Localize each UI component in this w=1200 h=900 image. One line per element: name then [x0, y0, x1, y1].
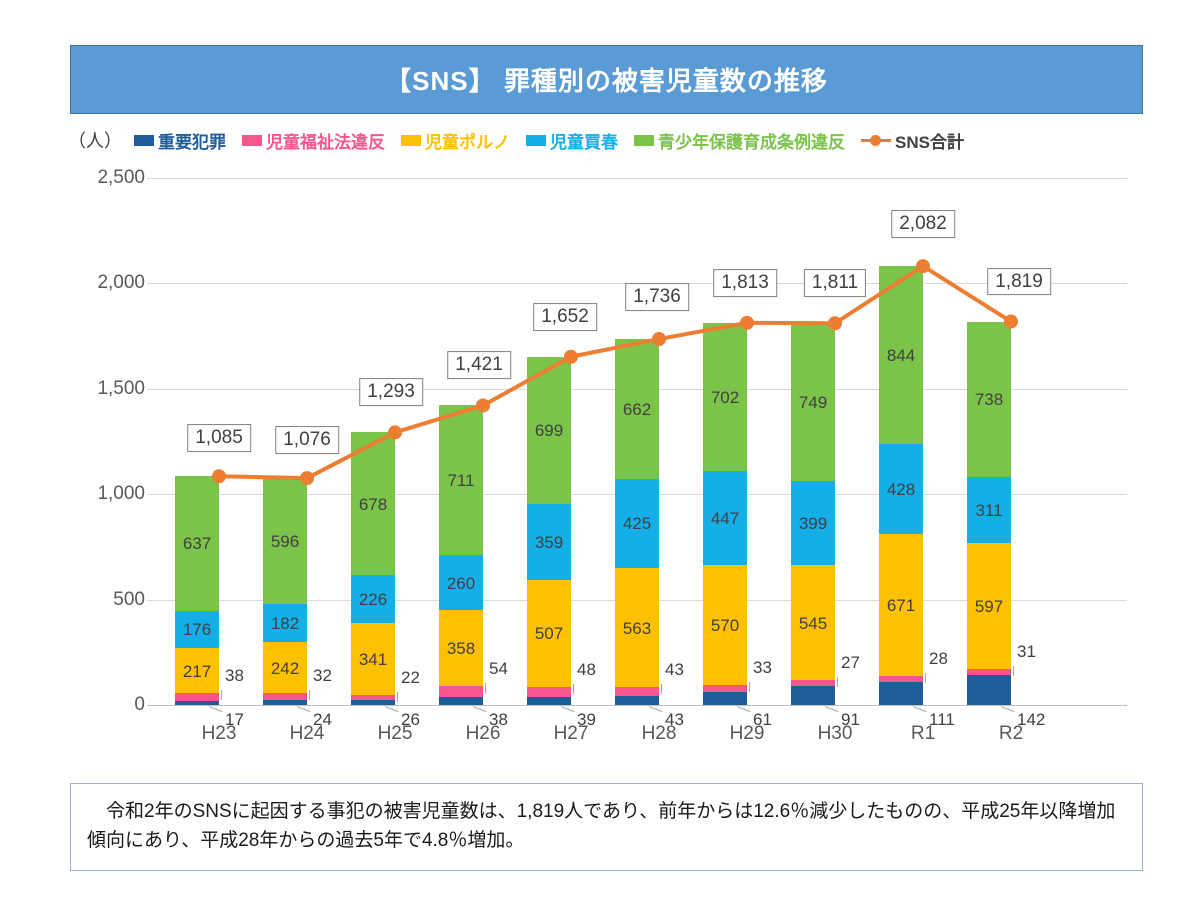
leader-line: [661, 684, 662, 694]
leader-line: [837, 677, 838, 687]
legend-line-marker-icon: [861, 134, 891, 146]
y-axis-tick-label: 1,500: [55, 378, 145, 400]
bar-group-R2[interactable]: 14231597311738: [967, 160, 1055, 715]
bar-group-H29[interactable]: 6133570447702: [703, 160, 791, 715]
legend-swatch-icon: [401, 135, 421, 146]
bar-segment-value: 545: [791, 615, 835, 632]
bar-segment-value: 702: [703, 389, 747, 406]
y-axis: 2,5002,0001,5001,0005000: [55, 160, 145, 720]
leader-line: [925, 673, 926, 683]
bar-segment-value: 844: [879, 347, 923, 364]
bar-segment-value: 749: [791, 394, 835, 411]
bar-segment[interactable]: [615, 696, 659, 705]
bar-segment-value: 27: [841, 654, 860, 671]
bar-group-H27[interactable]: 3948507359699: [527, 160, 615, 715]
bar-segment-value: 32: [313, 667, 332, 684]
bar-segment-value: 399: [791, 515, 835, 532]
y-axis-tick-label: 2,000: [55, 272, 145, 294]
leader-line: [1013, 666, 1014, 676]
bar-segment-value: 671: [879, 597, 923, 614]
leader-line: [749, 682, 750, 692]
chart-page: 【SNS】 罪種別の被害児童数の推移 （人） 重要犯罪児童福祉法違反児童ポルノ児…: [0, 0, 1200, 900]
legend-item-label: 重要犯罪: [158, 128, 226, 153]
legend-item-0[interactable]: 重要犯罪: [134, 128, 226, 153]
bar-segment-value: 711: [439, 472, 483, 489]
bar-segment-value: 596: [263, 533, 307, 550]
bar-segment-value: 662: [615, 401, 659, 418]
leader-line: [209, 706, 222, 712]
leader-line: [309, 690, 310, 700]
bar-segment[interactable]: [967, 675, 1011, 705]
bar-segment-value: 22: [401, 669, 420, 686]
legend-swatch-icon: [526, 135, 546, 146]
bar-segment-value: 260: [439, 575, 483, 592]
bar-segment-value: 358: [439, 640, 483, 657]
x-axis-tick-label: H27: [527, 723, 615, 745]
legend-item-label: SNS合計: [895, 128, 964, 153]
bar-segment-value: 425: [615, 515, 659, 532]
leader-line: [913, 706, 926, 712]
page-title: 【SNS】 罪種別の被害児童数の推移: [385, 61, 828, 98]
y-axis-unit-label: （人）: [68, 127, 122, 153]
bar-segment[interactable]: [351, 695, 395, 700]
bar-segment[interactable]: [703, 692, 747, 705]
leader-line: [825, 706, 838, 712]
bar-segment-value: 176: [175, 621, 219, 638]
bar-segment-value: 226: [351, 591, 395, 608]
total-value-callout: 1,736: [625, 283, 689, 311]
bar-segment[interactable]: [175, 693, 219, 701]
leader-line: [737, 706, 750, 712]
total-value-callout: 2,082: [891, 210, 955, 238]
bar-segment-value: 341: [351, 651, 395, 668]
y-axis-tick-label: 2,500: [55, 167, 145, 189]
bar-segment-value: 311: [967, 502, 1011, 519]
bar-segment-value: 242: [263, 660, 307, 677]
bar-group-H28[interactable]: 4343563425662: [615, 160, 703, 715]
leader-line: [221, 690, 222, 700]
bar-group-H30[interactable]: 9127545399749: [791, 160, 879, 715]
bar-segment[interactable]: [175, 701, 219, 705]
legend-swatch-icon: [634, 135, 654, 146]
bar-segment[interactable]: [791, 686, 835, 705]
x-axis-tick-label: H23: [175, 723, 263, 745]
total-value-callout: 1,293: [359, 379, 423, 407]
bar-segment[interactable]: [967, 669, 1011, 676]
bar-segment-value: 597: [967, 598, 1011, 615]
title-banner: 【SNS】 罪種別の被害児童数の推移: [70, 45, 1143, 114]
bar-segment-value: 28: [929, 650, 948, 667]
leader-line: [649, 706, 662, 712]
bar-group-R1[interactable]: 11128671428844: [879, 160, 967, 715]
y-axis-tick-label: 0: [55, 694, 145, 716]
bar-segment-value: 48: [577, 661, 596, 678]
chart-legend: （人） 重要犯罪児童福祉法違反児童ポルノ児童買春青少年保護育成条例違反SNS合計: [68, 126, 1148, 154]
total-value-callout: 1,819: [987, 268, 1051, 296]
bar-segment-value: 31: [1017, 643, 1036, 660]
legend-item-5[interactable]: SNS合計: [861, 128, 964, 153]
bar-segment-value: 33: [753, 659, 772, 676]
leader-line: [385, 706, 398, 712]
x-axis-tick-label: R1: [879, 723, 967, 745]
total-value-callout: 1,076: [275, 426, 339, 454]
leader-line: [397, 692, 398, 702]
bar-segment[interactable]: [263, 693, 307, 700]
x-axis-tick-label: H30: [791, 723, 879, 745]
y-axis-tick-label: 500: [55, 589, 145, 611]
x-axis-tick-label: R2: [967, 723, 1055, 745]
summary-note-text: 令和2年のSNSに起因する事犯の被害児童数は、1,819人であり、前年からは12…: [87, 797, 1126, 856]
bar-group-H25[interactable]: 2622341226678: [351, 160, 439, 715]
leader-line: [573, 684, 574, 694]
leader-line: [473, 706, 486, 712]
leader-line: [561, 706, 574, 712]
bar-segment[interactable]: [703, 685, 747, 692]
leader-line: [485, 683, 486, 693]
y-axis-tick-label: 1,000: [55, 483, 145, 505]
bar-segment[interactable]: [351, 700, 395, 705]
total-value-callout: 1,652: [533, 303, 597, 331]
bar-segment-value: 43: [665, 661, 684, 678]
bar-segment-value: 507: [527, 625, 571, 642]
leader-line: [297, 706, 310, 712]
bar-segment[interactable]: [527, 687, 571, 697]
bar-segment-value: 359: [527, 534, 571, 551]
legend-item-label: 児童買春: [550, 128, 618, 153]
legend-item-label: 児童福祉法違反: [266, 128, 385, 153]
bar-segment-value: 428: [879, 481, 923, 498]
legend-item-2[interactable]: 児童ポルノ: [401, 128, 510, 153]
bar-segment-value: 38: [225, 667, 244, 684]
bar-segment-value: 563: [615, 620, 659, 637]
x-axis-tick-label: H28: [615, 723, 703, 745]
legend-swatch-icon: [134, 135, 154, 146]
x-axis-tick-label: H25: [351, 723, 439, 745]
legend-item-4[interactable]: 青少年保護育成条例違反: [634, 128, 845, 153]
bar-group-H26[interactable]: 3854358260711: [439, 160, 527, 715]
x-axis-tick-label: H24: [263, 723, 351, 745]
bar-segment[interactable]: [879, 682, 923, 705]
bar-segment-value: 738: [967, 391, 1011, 408]
bar-segment-value: 217: [175, 663, 219, 680]
bar-segment-value: 570: [703, 617, 747, 634]
bar-segment[interactable]: [439, 686, 483, 697]
bar-segment[interactable]: [439, 697, 483, 705]
bar-segment-value: 678: [351, 496, 395, 513]
legend-item-label: 児童ポルノ: [425, 128, 510, 153]
bar-segment-value: 447: [703, 510, 747, 527]
total-value-callout: 1,813: [713, 269, 777, 297]
plot-wrapper: 2,5002,0001,5001,0005000 173821717663724…: [0, 160, 1200, 760]
bar-segment-value: 637: [175, 535, 219, 552]
total-value-callout: 1,421: [447, 352, 511, 380]
plot-area: 1738217176637243224218259626223412266783…: [147, 160, 1127, 715]
total-value-callout: 1,811: [804, 269, 866, 297]
legend-swatch-icon: [242, 135, 262, 146]
bar-segment-value: 54: [489, 660, 508, 677]
bar-segment-value: 699: [527, 422, 571, 439]
x-axis-tick-label: H26: [439, 723, 527, 745]
legend-item-label: 青少年保護育成条例違反: [658, 128, 845, 153]
legend-item-1[interactable]: 児童福祉法違反: [242, 128, 385, 153]
leader-line: [1001, 706, 1014, 712]
legend-item-3[interactable]: 児童買春: [526, 128, 618, 153]
x-axis-tick-label: H29: [703, 723, 791, 745]
bar-segment[interactable]: [527, 697, 571, 705]
bar-segment[interactable]: [615, 687, 659, 696]
bar-segment[interactable]: [263, 700, 307, 705]
bar-segment[interactable]: [879, 676, 923, 682]
bar-segment[interactable]: [791, 680, 835, 686]
summary-note: 令和2年のSNSに起因する事犯の被害児童数は、1,819人であり、前年からは12…: [70, 783, 1143, 871]
total-value-callout: 1,085: [187, 424, 251, 452]
bar-segment-value: 182: [263, 615, 307, 632]
